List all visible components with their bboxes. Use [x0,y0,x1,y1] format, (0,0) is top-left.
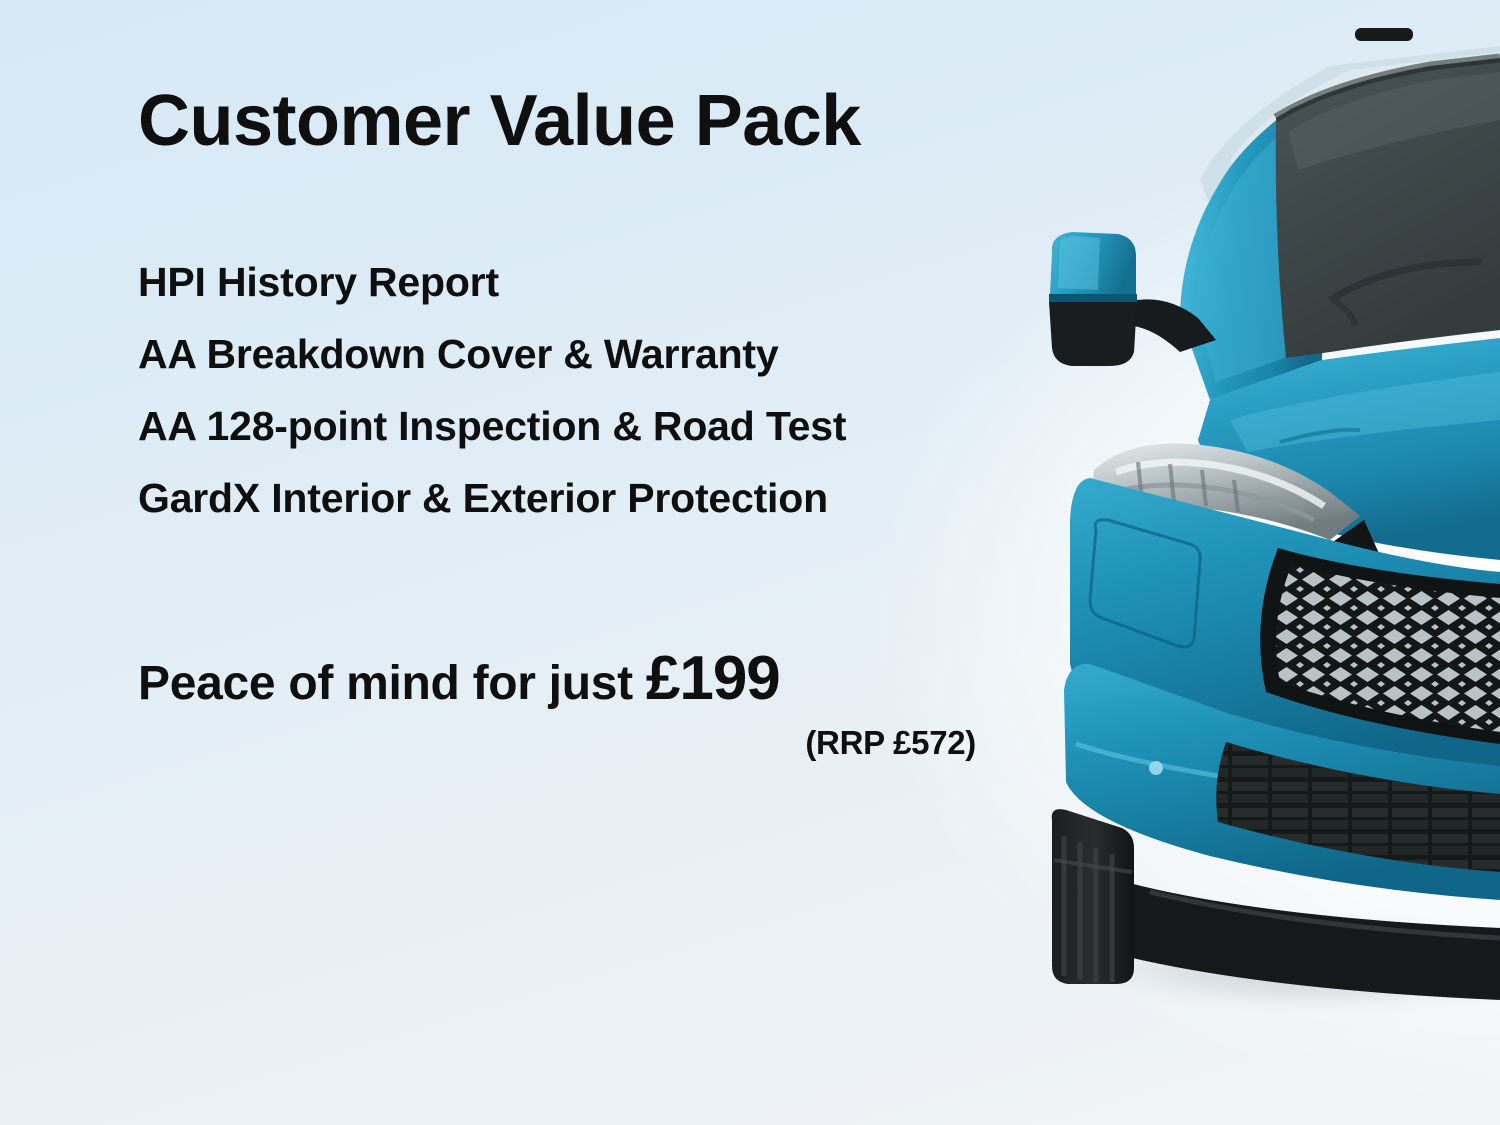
promo-banner: Customer Value Pack HPI History Report A… [0,0,1500,1125]
van-illustration [1030,0,1500,1125]
list-item: HPI History Report [138,262,1018,303]
price-line: Peace of mind for just £199 [138,648,1018,710]
price-amount: £199 [646,644,780,713]
parking-sensor-icon [1149,761,1163,775]
rrp-label: (RRP £572) [138,726,1018,759]
page-title: Customer Value Pack [138,84,861,160]
price-block: Peace of mind for just £199 (RRP £572) [138,648,1018,759]
list-item: AA Breakdown Cover & Warranty [138,334,1018,375]
roof-antenna-icon [1355,28,1413,41]
price-prefix-label: Peace of mind for just [138,657,646,710]
list-item: AA 128-point Inspection & Road Test [138,406,1018,447]
list-item: GardX Interior & Exterior Protection [138,478,1018,519]
feature-list: HPI History Report AA Breakdown Cover & … [138,262,1018,550]
vehicle-photo [1030,0,1500,1125]
front-tyre [1052,809,1134,984]
